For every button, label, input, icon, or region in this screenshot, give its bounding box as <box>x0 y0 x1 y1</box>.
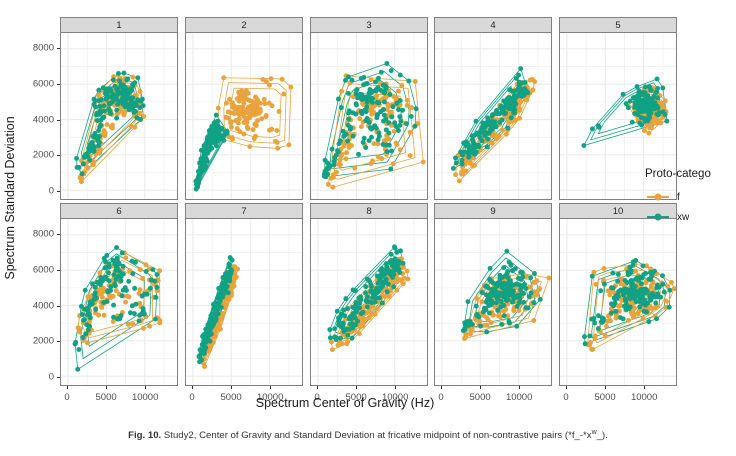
facet-plot-body-4 <box>434 32 552 200</box>
y-tick-label: 8000 <box>33 229 54 240</box>
scatter-series-xw <box>327 244 405 342</box>
facet-plot-body-10 <box>559 218 677 386</box>
facet-plot-body-7 <box>185 218 303 386</box>
y-tick-label: 0 <box>49 186 54 197</box>
facet-panel-2: 2 <box>185 17 303 200</box>
legend-key-f <box>645 187 671 207</box>
x-tick-mark <box>480 386 481 389</box>
facet-strip-label-6: 6 <box>60 203 178 219</box>
x-tick-mark <box>145 386 146 389</box>
y-axis-title-wrapper: Spectrum Standard Deviation <box>0 10 20 385</box>
legend-title: Proto-catego <box>645 168 736 180</box>
figure-container: Spectrum Standard Deviation 020004000600… <box>0 0 736 456</box>
x-tick-mark <box>192 386 193 389</box>
legend-item-label: f <box>671 192 680 203</box>
facet-strip-label-2: 2 <box>185 17 303 33</box>
facet-strip-label-5: 5 <box>559 17 677 33</box>
facet-strip-label-8: 8 <box>310 203 428 219</box>
y-tick-label: 2000 <box>33 336 54 347</box>
x-tick-mark <box>441 386 442 389</box>
facet-strip-label-3: 3 <box>310 17 428 33</box>
y-tick-label: 0 <box>49 372 54 383</box>
facet-plot-body-1 <box>60 32 178 200</box>
facet-strip-label-7: 7 <box>185 203 303 219</box>
x-tick-mark <box>519 386 520 389</box>
caption-suffix: _). <box>597 430 608 441</box>
legend-key-xw <box>645 207 671 227</box>
facet-plot-body-6 <box>60 218 178 386</box>
x-tick-mark <box>106 386 107 389</box>
x-axis-title: Spectrum Center of Gravity (Hz) <box>55 396 635 410</box>
facet-plot-body-2 <box>185 32 303 200</box>
y-tick-label: 6000 <box>33 264 54 275</box>
x-tick-mark <box>67 386 68 389</box>
x-tick-mark <box>566 386 567 389</box>
facet-plot-body-9 <box>434 218 552 386</box>
x-tick-mark <box>231 386 232 389</box>
y-axis-title: Spectrum Standard Deviation <box>3 116 17 279</box>
facet-strip-label-4: 4 <box>434 17 552 33</box>
legend-point-swatch <box>655 194 662 201</box>
y-tick-label: 4000 <box>33 114 54 125</box>
facet-panel-10: 10 <box>559 203 677 386</box>
x-tick-mark <box>644 386 645 389</box>
facet-panel-8: 8 <box>310 203 428 386</box>
legend-point-swatch <box>655 214 662 221</box>
legend-item-label: xw <box>671 212 689 223</box>
facet-panel-4: 4 <box>434 17 552 200</box>
facet-panel-3: 3 <box>310 17 428 200</box>
figure-caption: Fig. 10. Study2, Center of Gravity and S… <box>0 428 736 443</box>
y-tick-label: 2000 <box>33 150 54 161</box>
facet-panel-1: 1 <box>60 17 178 200</box>
plot-area: Spectrum Standard Deviation 020004000600… <box>0 0 736 420</box>
legend-item-xw[interactable]: xw <box>645 207 736 227</box>
legend-items: fxw <box>645 187 736 227</box>
scatter-series-xw <box>197 255 235 364</box>
x-tick-mark <box>317 386 318 389</box>
facet-strip-label-9: 9 <box>434 203 552 219</box>
y-tick-label: 6000 <box>33 78 54 89</box>
y-tick-label: 8000 <box>33 43 54 54</box>
caption-label: Fig. 10. <box>128 430 161 441</box>
facet-plot-body-8 <box>310 218 428 386</box>
x-tick-mark <box>605 386 606 389</box>
caption-text: Study2, Center of Gravity and Standard D… <box>164 430 592 441</box>
facet-panel-9: 9 <box>434 203 552 386</box>
legend-item-f[interactable]: f <box>645 187 736 207</box>
facet-panel-7: 7 <box>185 203 303 386</box>
x-tick-mark <box>356 386 357 389</box>
facet-strip-label-1: 1 <box>60 17 178 33</box>
facet-panel-6: 6 <box>60 203 178 386</box>
facet-plot-body-3 <box>310 32 428 200</box>
x-tick-mark <box>270 386 271 389</box>
y-tick-label: 4000 <box>33 300 54 311</box>
legend: Proto-catego fxw <box>645 168 736 227</box>
x-tick-mark <box>395 386 396 389</box>
